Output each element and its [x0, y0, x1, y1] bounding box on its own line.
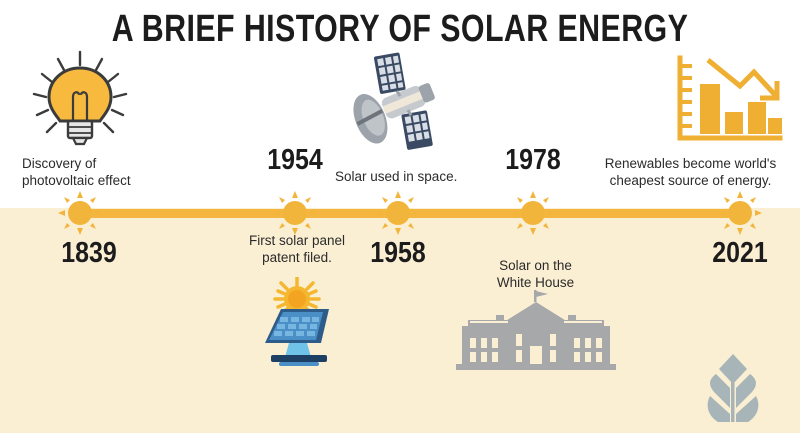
satellite-icon	[342, 48, 450, 156]
solar-panel-icon	[245, 277, 345, 369]
event-caption-2021: Renewables become world's cheapest sourc…	[588, 155, 793, 189]
event-caption-1958: Solar used in space.	[335, 168, 505, 185]
leaf-logo	[700, 352, 766, 424]
event-caption-1954: First solar panel patent filed.	[222, 232, 372, 266]
declining-bar-chart-icon	[668, 52, 784, 148]
timeline-marker-1954[interactable]	[273, 191, 317, 235]
infographic-poster: A BRIEF HISTORY OF SOLAR ENERGY	[0, 0, 800, 433]
event-year-1958: 1958	[359, 237, 436, 270]
timeline-marker-1978[interactable]	[511, 191, 555, 235]
event-year-1978: 1978	[494, 144, 571, 177]
event-caption-1839: Discovery of photovoltaic effect	[22, 155, 202, 189]
event-year-1839: 1839	[50, 237, 127, 270]
timeline-marker-1839[interactable]	[58, 191, 102, 235]
lightbulb-icon	[28, 50, 132, 150]
timeline-marker-1958[interactable]	[376, 191, 420, 235]
event-caption-1978: Solar on the White House	[458, 257, 613, 291]
white-house-icon	[452, 290, 620, 370]
page-title: A BRIEF HISTORY OF SOLAR ENERGY	[80, 8, 720, 51]
event-year-2021: 2021	[701, 237, 778, 270]
event-year-1954: 1954	[256, 144, 333, 177]
timeline-marker-2021[interactable]	[718, 191, 762, 235]
